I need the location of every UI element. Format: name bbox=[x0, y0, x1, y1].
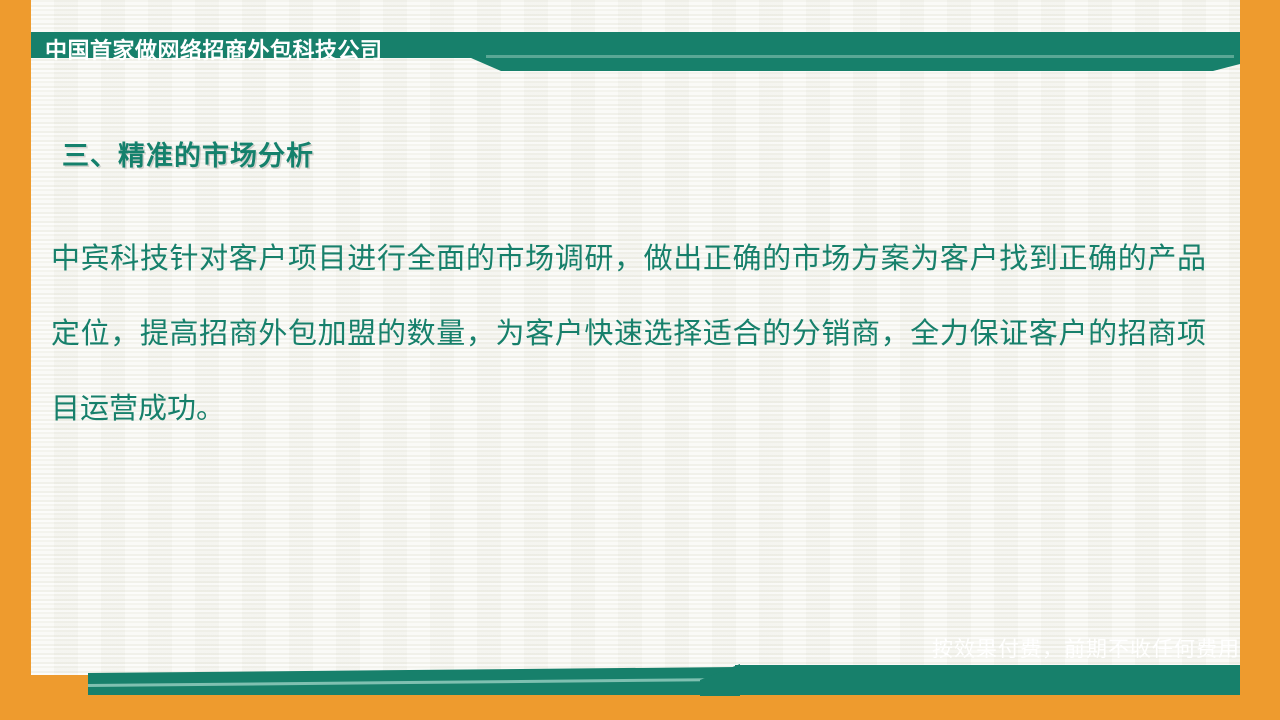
footer-slogan: 按效果付费，前期不收任何费用 bbox=[932, 634, 1240, 666]
slide-content-panel: 中国首家做网络招商外包科技公司 三、精准的市场分析 中宾科技针对客户项目进行全面… bbox=[31, 0, 1240, 675]
footer-band-divider bbox=[88, 678, 735, 687]
section-heading: 三、精准的市场分析 bbox=[62, 134, 314, 173]
header-band-lower-strip bbox=[486, 58, 1237, 70]
body-paragraph: 中宾科技针对客户项目进行全面的市场调研，做出正确的市场方案为客户找到正确的产品定… bbox=[51, 222, 1206, 447]
header-band-divider bbox=[486, 55, 1234, 58]
header-title: 中国首家做网络招商外包科技公司 bbox=[45, 34, 383, 68]
presentation-slide: 中国首家做网络招商外包科技公司 三、精准的市场分析 中宾科技针对客户项目进行全面… bbox=[0, 0, 1280, 720]
